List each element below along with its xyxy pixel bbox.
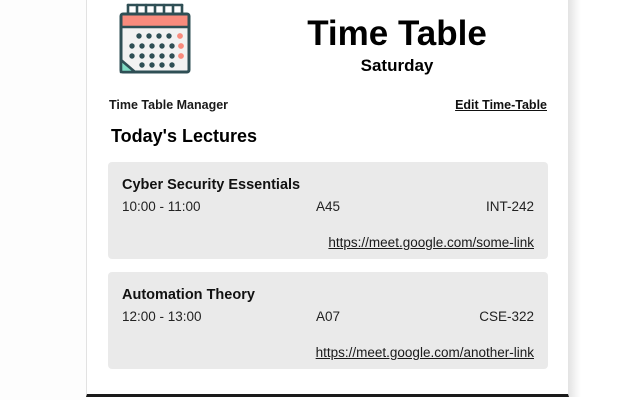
lecture-link-row: https://meet.google.com/another-link <box>122 344 534 362</box>
lecture-room: A07 <box>258 307 398 327</box>
timetable-panel: Time Table Saturday Time Table Manager E… <box>86 0 569 397</box>
lecture-room: A45 <box>258 197 398 217</box>
calendar-icon <box>107 2 205 80</box>
lecture-card[interactable]: Automation Theory 12:00 - 13:00 A07 CSE-… <box>108 272 548 369</box>
page-left-gutter <box>0 0 86 400</box>
app-subtitle-day: Saturday <box>237 55 557 77</box>
lecture-code: INT-242 <box>398 197 534 217</box>
panel-header: Time Table Saturday <box>87 0 570 92</box>
page-right-gutter <box>581 0 640 400</box>
lecture-title: Cyber Security Essentials <box>122 176 534 195</box>
timetable-manager-label: Time Table Manager <box>109 98 228 112</box>
app-title: Time Table <box>237 14 557 54</box>
lecture-details-row: 10:00 - 11:00 A45 INT-242 <box>122 197 534 217</box>
lecture-code: CSE-322 <box>398 307 534 327</box>
title-block: Time Table Saturday <box>237 14 557 77</box>
lecture-meeting-link[interactable]: https://meet.google.com/some-link <box>328 235 534 250</box>
edit-timetable-link[interactable]: Edit Time-Table <box>455 98 547 112</box>
lecture-card[interactable]: Cyber Security Essentials 10:00 - 11:00 … <box>108 162 548 259</box>
lecture-details-row: 12:00 - 13:00 A07 CSE-322 <box>122 307 534 327</box>
lecture-list: Cyber Security Essentials 10:00 - 11:00 … <box>108 162 548 382</box>
lecture-title: Automation Theory <box>122 286 534 305</box>
lecture-time: 12:00 - 13:00 <box>122 307 258 327</box>
panel-drop-shadow <box>569 0 581 397</box>
meta-row: Time Table Manager Edit Time-Table <box>109 98 547 112</box>
lecture-link-row: https://meet.google.com/some-link <box>122 234 534 252</box>
section-heading-todays-lectures: Today's Lectures <box>111 126 257 147</box>
lecture-time: 10:00 - 11:00 <box>122 197 258 217</box>
lecture-meeting-link[interactable]: https://meet.google.com/another-link <box>316 345 534 360</box>
app-root: Time Table Saturday Time Table Manager E… <box>0 0 640 400</box>
